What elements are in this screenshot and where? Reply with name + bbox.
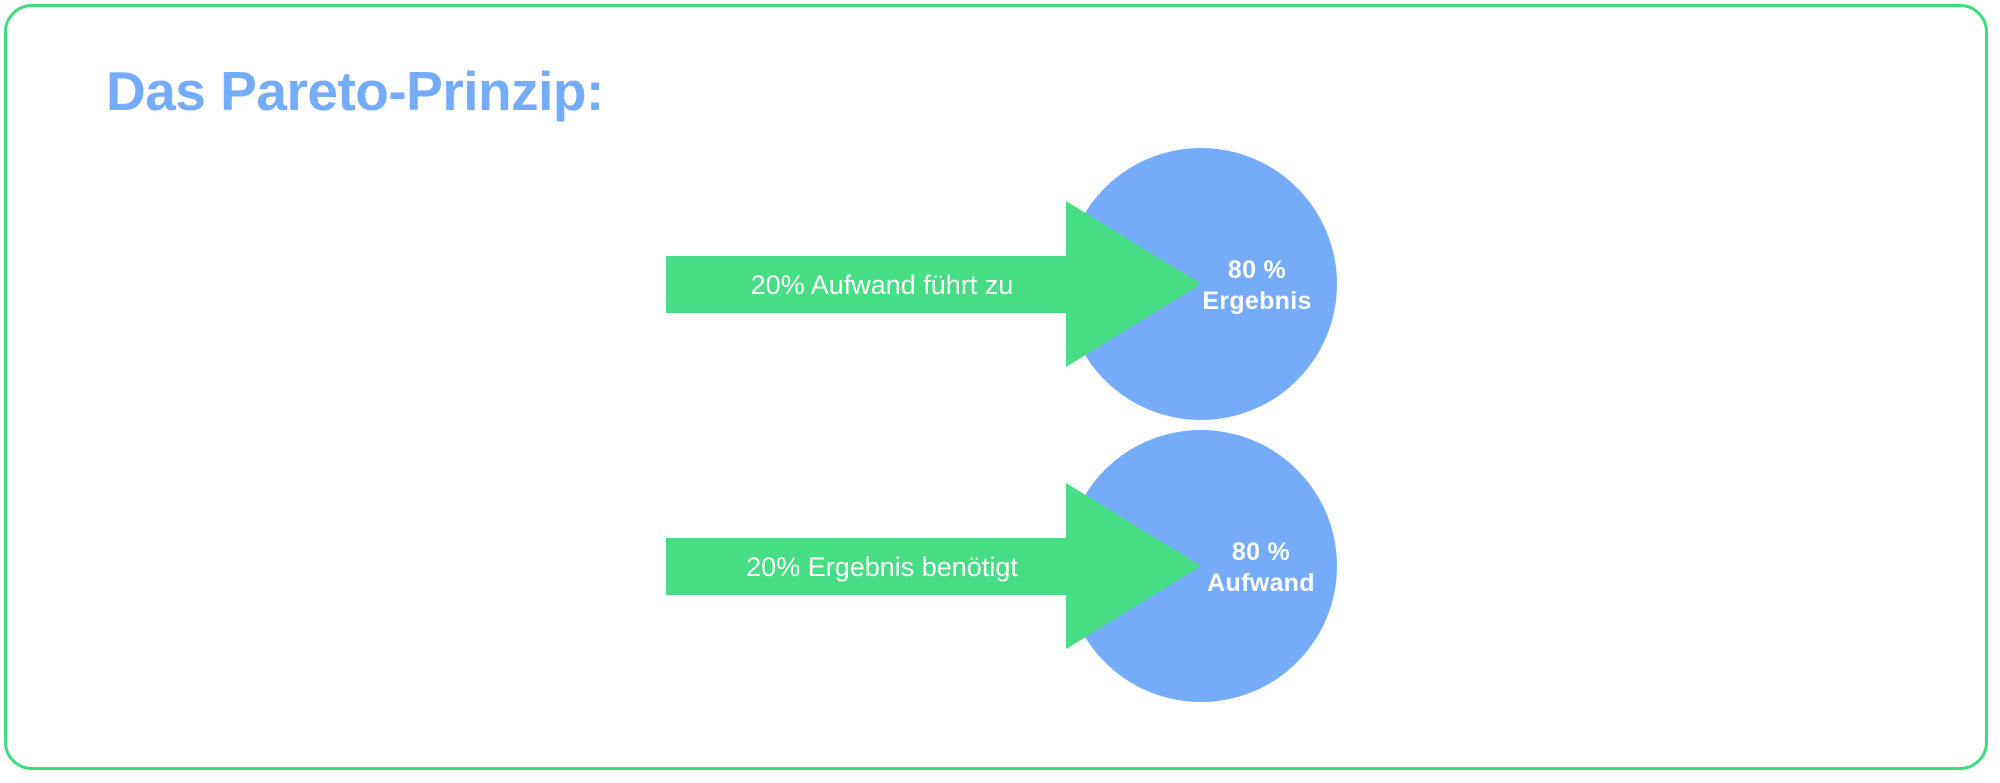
circle-value-2: 80 % [1232, 538, 1290, 566]
pareto-row-2: 20% Ergebnis benötigt 80 % Aufwand [666, 430, 1337, 702]
arrow-label-1: 20% Aufwand führt zu [751, 270, 1014, 300]
circle-value-1: 80 % [1228, 256, 1286, 284]
arrow-label-2: 20% Ergebnis benötigt [746, 552, 1018, 582]
circle-name-2: Aufwand [1207, 569, 1315, 597]
circle-name-1: Ergebnis [1202, 287, 1311, 315]
pareto-row-1: 20% Aufwand führt zu 80 % Ergebnis [666, 148, 1337, 420]
pareto-diagram: 20% Aufwand führt zu 80 % Ergebnis 20% E… [0, 0, 2000, 783]
